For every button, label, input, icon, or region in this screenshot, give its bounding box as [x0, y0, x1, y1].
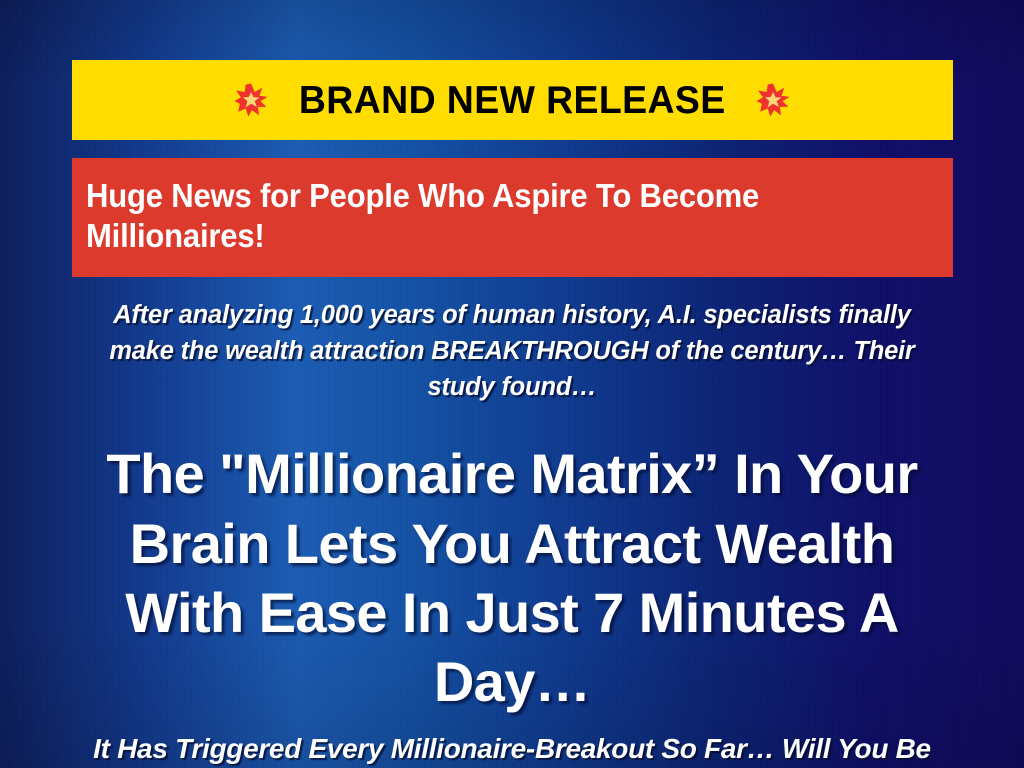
sub-headline: It Has Triggered Every Millionaire-Break… — [77, 731, 947, 767]
page-content: BRAND NEW RELEASE Huge News for People W… — [72, 0, 953, 767]
lead-paragraph: After analyzing 1,000 years of human his… — [92, 297, 932, 406]
landing-page: BRAND NEW RELEASE Huge News for People W… — [0, 0, 1024, 768]
news-banner-text: Huge News for People Who Aspire To Becom… — [86, 176, 888, 257]
release-banner: BRAND NEW RELEASE — [72, 60, 953, 140]
release-banner-label: BRAND NEW RELEASE — [299, 81, 726, 120]
page-title: The "Millionaire Matrix” In Your Brain L… — [97, 439, 927, 717]
collision-boom-icon-left — [234, 83, 268, 117]
news-banner: Huge News for People Who Aspire To Becom… — [72, 158, 953, 277]
collision-boom-icon-right — [756, 83, 790, 117]
